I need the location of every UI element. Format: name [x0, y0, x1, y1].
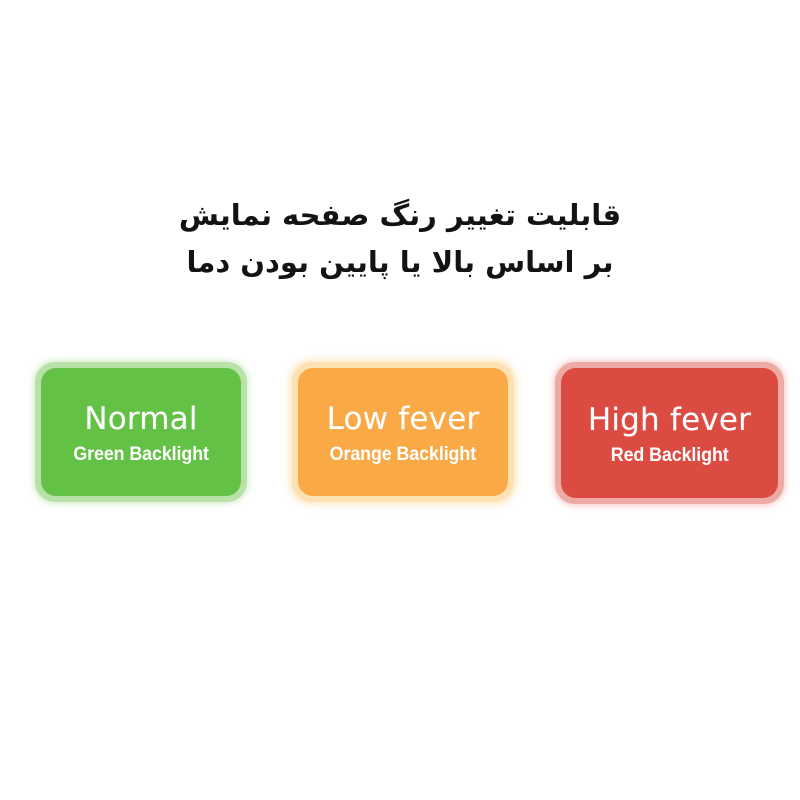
backlight-card-high-fever-subtitle: Red Backlight [611, 446, 729, 466]
heading-line-2: بر اساس بالا یا پایین بودن دما [0, 239, 800, 286]
backlight-card-normal: Normal Green Backlight [35, 362, 247, 502]
backlight-card-normal-title: Normal [84, 403, 197, 436]
backlight-card-high-fever: High fever Red Backlight [555, 362, 784, 504]
backlight-card-normal-subtitle: Green Backlight [73, 445, 209, 465]
backlight-card-high-fever-body: High fever Red Backlight [561, 368, 778, 498]
backlight-card-low-fever-title: Low fever [327, 403, 480, 436]
backlight-card-low-fever: Low fever Orange Backlight [292, 362, 514, 502]
backlight-card-high-fever-title: High fever [588, 404, 751, 437]
backlight-state-cards: Normal Green Backlight Low fever Orange … [0, 362, 800, 512]
feature-heading: قابلیت تغییر رنگ صفحه نمایش بر اساس بالا… [0, 192, 800, 286]
backlight-card-low-fever-body: Low fever Orange Backlight [298, 368, 508, 496]
heading-line-1: قابلیت تغییر رنگ صفحه نمایش [0, 192, 800, 239]
product-feature-graphic: قابلیت تغییر رنگ صفحه نمایش بر اساس بالا… [0, 0, 800, 800]
backlight-card-normal-body: Normal Green Backlight [41, 368, 241, 496]
backlight-card-low-fever-subtitle: Orange Backlight [330, 445, 476, 465]
